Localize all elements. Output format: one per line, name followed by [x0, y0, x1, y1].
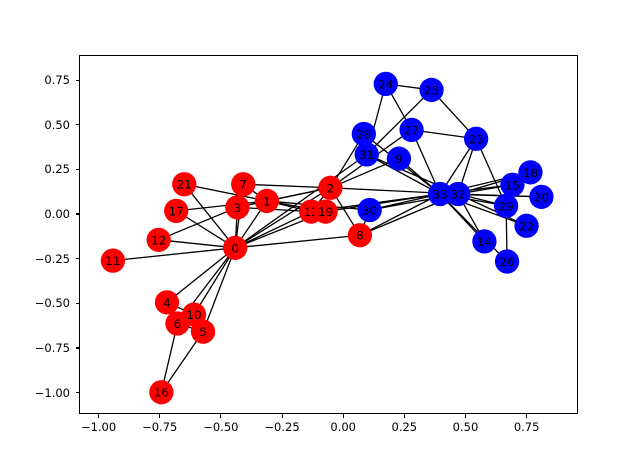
node-marker[interactable] [529, 185, 553, 209]
graph-node-31[interactable]: 31 [355, 142, 379, 166]
graph-node-7[interactable]: 7 [231, 172, 255, 196]
y-tick-mark [76, 213, 80, 214]
node-marker[interactable] [428, 182, 452, 206]
y-tick-label: 0.00 [0, 207, 70, 221]
graph-node-2[interactable]: 2 [318, 176, 342, 200]
y-tick-label: −0.25 [0, 252, 70, 266]
graph-node-23[interactable]: 23 [464, 127, 488, 151]
y-tick-mark [76, 392, 80, 393]
x-tick-mark [343, 414, 344, 418]
graph-node-20[interactable]: 20 [529, 185, 553, 209]
graph-node-27[interactable]: 27 [399, 118, 423, 142]
node-marker[interactable] [472, 229, 496, 253]
node-marker[interactable] [352, 122, 376, 146]
node-marker[interactable] [182, 302, 206, 326]
node-marker[interactable] [518, 160, 542, 184]
node-marker[interactable] [514, 214, 538, 238]
graph-node-9[interactable]: 9 [387, 147, 411, 171]
graph-node-18[interactable]: 18 [518, 160, 542, 184]
graph-node-17[interactable]: 17 [164, 199, 188, 223]
graph-node-16[interactable]: 16 [149, 380, 173, 404]
x-tick-mark [98, 414, 99, 418]
node-marker[interactable] [495, 249, 519, 273]
x-tick-label: −0.75 [142, 420, 177, 434]
graph-node-1[interactable]: 1 [255, 189, 279, 213]
graph-node-8[interactable]: 8 [348, 223, 372, 247]
y-tick-label: −1.00 [0, 386, 70, 400]
y-tick-mark [76, 258, 80, 259]
node-marker[interactable] [225, 195, 249, 219]
graph-node-30[interactable]: 30 [358, 198, 382, 222]
node-marker[interactable] [155, 290, 179, 314]
y-tick-mark [76, 303, 80, 304]
graph-node-26[interactable]: 26 [495, 249, 519, 273]
y-tick-label: 0.50 [0, 118, 70, 132]
node-marker[interactable] [255, 189, 279, 213]
graph-node-21[interactable]: 21 [172, 172, 196, 196]
figure-canvas: 0123456789101112131415161718192021222324… [0, 0, 640, 476]
y-tick-mark [76, 80, 80, 81]
node-marker[interactable] [223, 236, 247, 260]
y-tick-label: 0.25 [0, 162, 70, 176]
node-marker[interactable] [318, 176, 342, 200]
y-tick-label: 0.75 [0, 73, 70, 87]
graph-node-11[interactable]: 11 [101, 248, 125, 272]
graph-node-29[interactable]: 29 [494, 194, 518, 218]
graph-edge [113, 248, 235, 261]
graph-node-33[interactable]: 33 [428, 182, 452, 206]
x-tick-label: −0.50 [203, 420, 238, 434]
node-marker[interactable] [348, 223, 372, 247]
graph-node-4[interactable]: 4 [155, 290, 179, 314]
graph-node-0[interactable]: 0 [223, 236, 247, 260]
x-tick-label: 0.25 [392, 420, 418, 434]
node-marker[interactable] [494, 194, 518, 218]
graph-node-10[interactable]: 10 [182, 302, 206, 326]
graph-node-22[interactable]: 22 [514, 214, 538, 238]
x-tick-mark [282, 414, 283, 418]
node-marker[interactable] [164, 199, 188, 223]
y-tick-mark [76, 347, 80, 348]
graph-node-12[interactable]: 12 [147, 228, 171, 252]
node-marker[interactable] [355, 142, 379, 166]
network-graph: 0123456789101112131415161718192021222324… [80, 56, 577, 413]
graph-edge [243, 184, 330, 188]
x-tick-mark [465, 414, 466, 418]
node-marker[interactable] [147, 228, 171, 252]
x-tick-label: 0.00 [330, 420, 356, 434]
graph-edge [235, 212, 311, 248]
node-marker[interactable] [399, 118, 423, 142]
graph-node-3[interactable]: 3 [225, 195, 249, 219]
y-tick-mark [76, 169, 80, 170]
node-marker[interactable] [101, 248, 125, 272]
node-marker[interactable] [419, 78, 443, 102]
node-marker[interactable] [387, 147, 411, 171]
node-marker[interactable] [313, 199, 337, 223]
x-tick-mark [526, 414, 527, 418]
y-tick-label: −0.75 [0, 341, 70, 355]
x-tick-mark [159, 414, 160, 418]
graph-node-28[interactable]: 28 [352, 122, 376, 146]
plot-area: 0123456789101112131415161718192021222324… [79, 55, 578, 414]
x-tick-mark [220, 414, 221, 418]
y-tick-mark [76, 124, 80, 125]
node-marker[interactable] [149, 380, 173, 404]
x-tick-label: 0.75 [514, 420, 540, 434]
x-tick-label: 0.50 [453, 420, 479, 434]
graph-node-25[interactable]: 25 [419, 78, 443, 102]
node-marker[interactable] [374, 72, 398, 96]
node-marker[interactable] [358, 198, 382, 222]
node-marker[interactable] [464, 127, 488, 151]
graph-edge [184, 184, 235, 248]
x-tick-mark [404, 414, 405, 418]
x-tick-label: −1.00 [81, 420, 116, 434]
y-tick-label: −0.50 [0, 296, 70, 310]
x-tick-label: −0.25 [264, 420, 299, 434]
graph-node-14[interactable]: 14 [472, 229, 496, 253]
node-marker[interactable] [172, 172, 196, 196]
graph-edge [176, 201, 267, 211]
node-marker[interactable] [231, 172, 255, 196]
graph-edge [235, 235, 360, 248]
graph-node-19[interactable]: 19 [313, 199, 337, 223]
graph-node-24[interactable]: 24 [374, 72, 398, 96]
